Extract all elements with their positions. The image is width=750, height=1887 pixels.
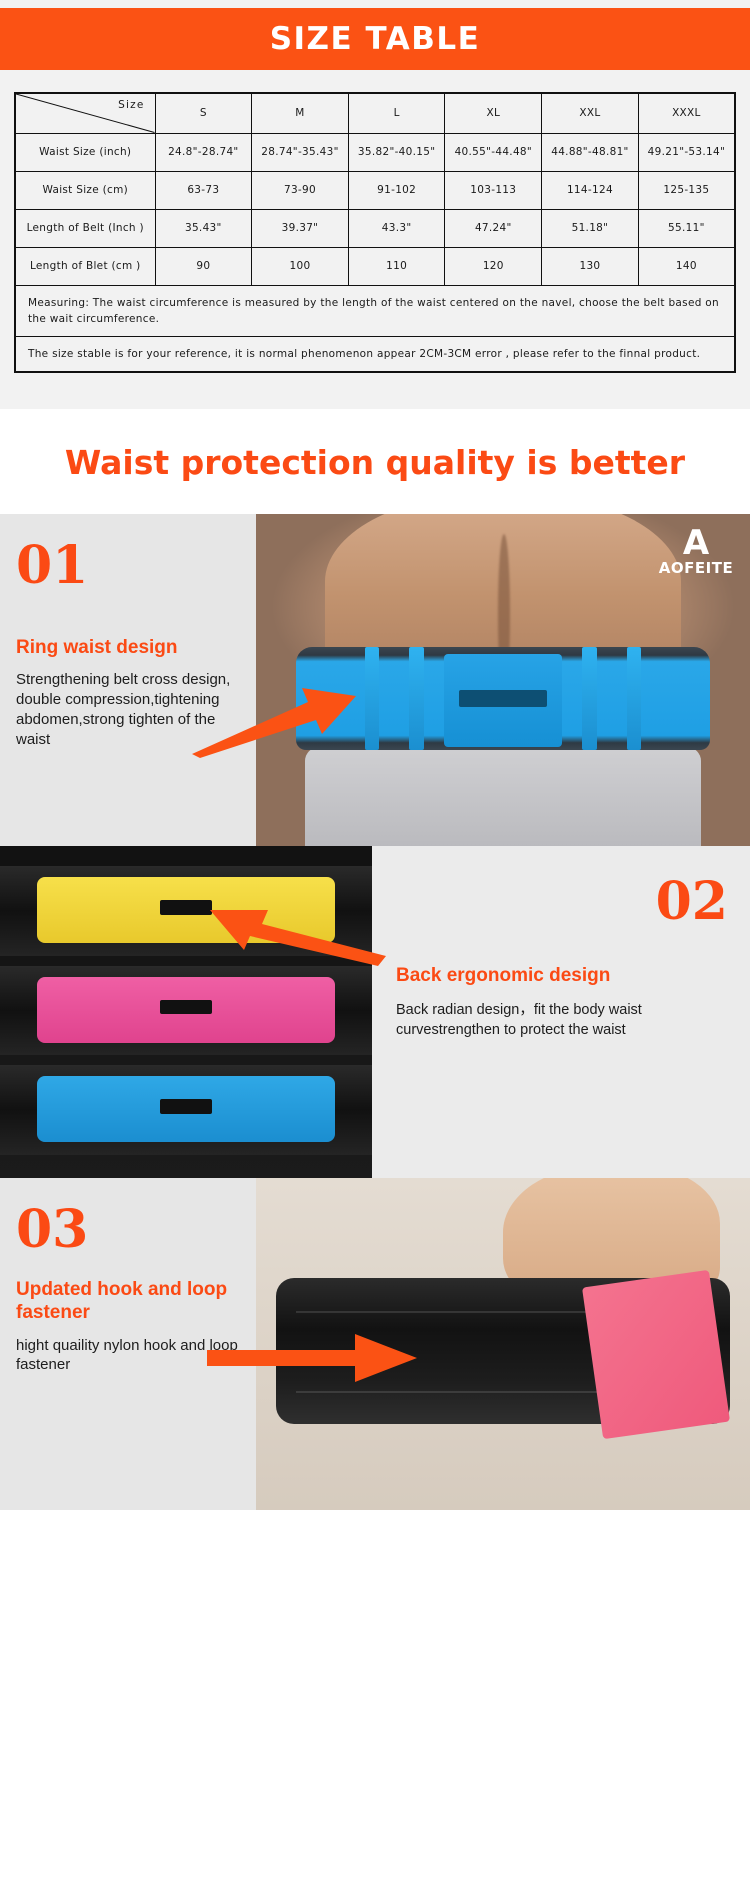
pointer-arrow-01-icon — [190, 682, 360, 758]
size-label: Size — [118, 99, 144, 111]
column-header-m: M — [252, 93, 349, 133]
belt-strap-right-2 — [582, 647, 597, 750]
size-table: Size S M L XL XXL XXXL Waist Size (inch)… — [14, 92, 736, 373]
cell: 100 — [252, 247, 349, 285]
feature-03-title: Updated hook and loop fastener — [16, 1278, 242, 1324]
feature-02-number: 02 — [396, 876, 728, 928]
cell: 47.24" — [445, 209, 542, 247]
feature-02-image — [0, 846, 372, 1178]
cell: 110 — [348, 247, 445, 285]
tolerance-note: The size stable is for your reference, i… — [15, 337, 735, 373]
table-header-row: Size S M L XL XXL XXXL — [15, 93, 735, 133]
feature-01-number: 01 — [16, 540, 242, 592]
column-header-xl: XL — [445, 93, 542, 133]
measuring-note: Measuring: The waist circumference is me… — [15, 285, 735, 337]
model-pants — [305, 747, 700, 847]
cell: 28.74"-35.43" — [252, 133, 349, 171]
cell: 130 — [542, 247, 639, 285]
table-row: Waist Size (cm) 63-73 73-90 91-102 103-1… — [15, 171, 735, 209]
column-header-xxl: XXL — [542, 93, 639, 133]
column-header-xxxl: XXXL — [638, 93, 735, 133]
row-label-waist-cm: Waist Size (cm) — [15, 171, 155, 209]
pink-fastener-strap — [582, 1270, 730, 1439]
feature-01-title: Ring waist design — [16, 636, 242, 659]
logo-mark-icon: A — [650, 528, 742, 559]
cell: 55.11" — [638, 209, 735, 247]
feature-03-number: 03 — [16, 1204, 242, 1256]
table-corner-cell: Size — [15, 93, 155, 133]
row-label-waist-inch: Waist Size (inch) — [15, 133, 155, 171]
feature-01-text: 01 Ring waist design Strengthening belt … — [0, 514, 256, 846]
belt-vent-hole — [459, 690, 548, 707]
headline-section: Waist protection quality is better — [0, 409, 750, 514]
cell: 43.3" — [348, 209, 445, 247]
column-header-l: L — [348, 93, 445, 133]
cell: 49.21"-53.14" — [638, 133, 735, 171]
cell: 120 — [445, 247, 542, 285]
cell: 125-135 — [638, 171, 735, 209]
feature-section-02: 02 Back ergonomic design Back radian des… — [0, 846, 750, 1178]
belt-strap-left-2 — [409, 647, 424, 750]
pointer-arrow-03-icon — [205, 1326, 420, 1388]
logo-brand-name: AOFEITE — [650, 559, 742, 577]
row-label-belt-cm: Length of Blet (cm ) — [15, 247, 155, 285]
cell: 73-90 — [252, 171, 349, 209]
size-table-section: Size S M L XL XXL XXXL Waist Size (inch)… — [0, 70, 750, 409]
cell: 35.82"-40.15" — [348, 133, 445, 171]
belt-strap-left — [365, 647, 380, 750]
product-detail-page: SIZE TABLE Size S M L XL — [0, 0, 750, 1510]
pink-belt — [0, 966, 372, 1056]
feature-02-text: 02 Back ergonomic design Back radian des… — [372, 846, 750, 1178]
cell: 35.43" — [155, 209, 252, 247]
cell: 44.88"-48.81" — [542, 133, 639, 171]
section-headline: Waist protection quality is better — [65, 443, 685, 482]
cell: 90 — [155, 247, 252, 285]
feature-section-01: 01 Ring waist design Strengthening belt … — [0, 514, 750, 846]
cell: 39.37" — [252, 209, 349, 247]
feature-section-03: 03 Updated hook and loop fastener hight … — [0, 1178, 750, 1510]
banner-section: SIZE TABLE — [0, 0, 750, 70]
cell: 40.55"-44.48" — [445, 133, 542, 171]
table-row: Waist Size (inch) 24.8"-28.74" 28.74"-35… — [15, 133, 735, 171]
cell: 140 — [638, 247, 735, 285]
row-label-belt-inch: Length of Belt (Inch ) — [15, 209, 155, 247]
cell: 103-113 — [445, 171, 542, 209]
table-note-row: The size stable is for your reference, i… — [15, 337, 735, 373]
brand-logo: A AOFEITE — [650, 528, 742, 577]
size-table-banner: SIZE TABLE — [0, 8, 750, 70]
column-header-s: S — [155, 93, 252, 133]
belt-strap-right — [627, 647, 642, 750]
table-row: Length of Blet (cm ) 90 100 110 120 130 … — [15, 247, 735, 285]
cell: 63-73 — [155, 171, 252, 209]
cell: 24.8"-28.74" — [155, 133, 252, 171]
blue-belt — [0, 1065, 372, 1155]
belt-slot — [160, 1000, 212, 1014]
feature-02-body: Back radian design，fit the body waist cu… — [396, 1001, 728, 1039]
feature-02-title: Back ergonomic design — [396, 964, 728, 987]
cell: 51.18" — [542, 209, 639, 247]
pointer-arrow-02-icon — [200, 898, 390, 968]
table-note-row: Measuring: The waist circumference is me… — [15, 285, 735, 337]
table-row: Length of Belt (Inch ) 35.43" 39.37" 43.… — [15, 209, 735, 247]
feature-01-image: A AOFEITE — [256, 514, 750, 846]
banner-title: SIZE TABLE — [270, 21, 481, 57]
belt-slot — [160, 1099, 212, 1113]
cell: 91-102 — [348, 171, 445, 209]
cell: 114-124 — [542, 171, 639, 209]
